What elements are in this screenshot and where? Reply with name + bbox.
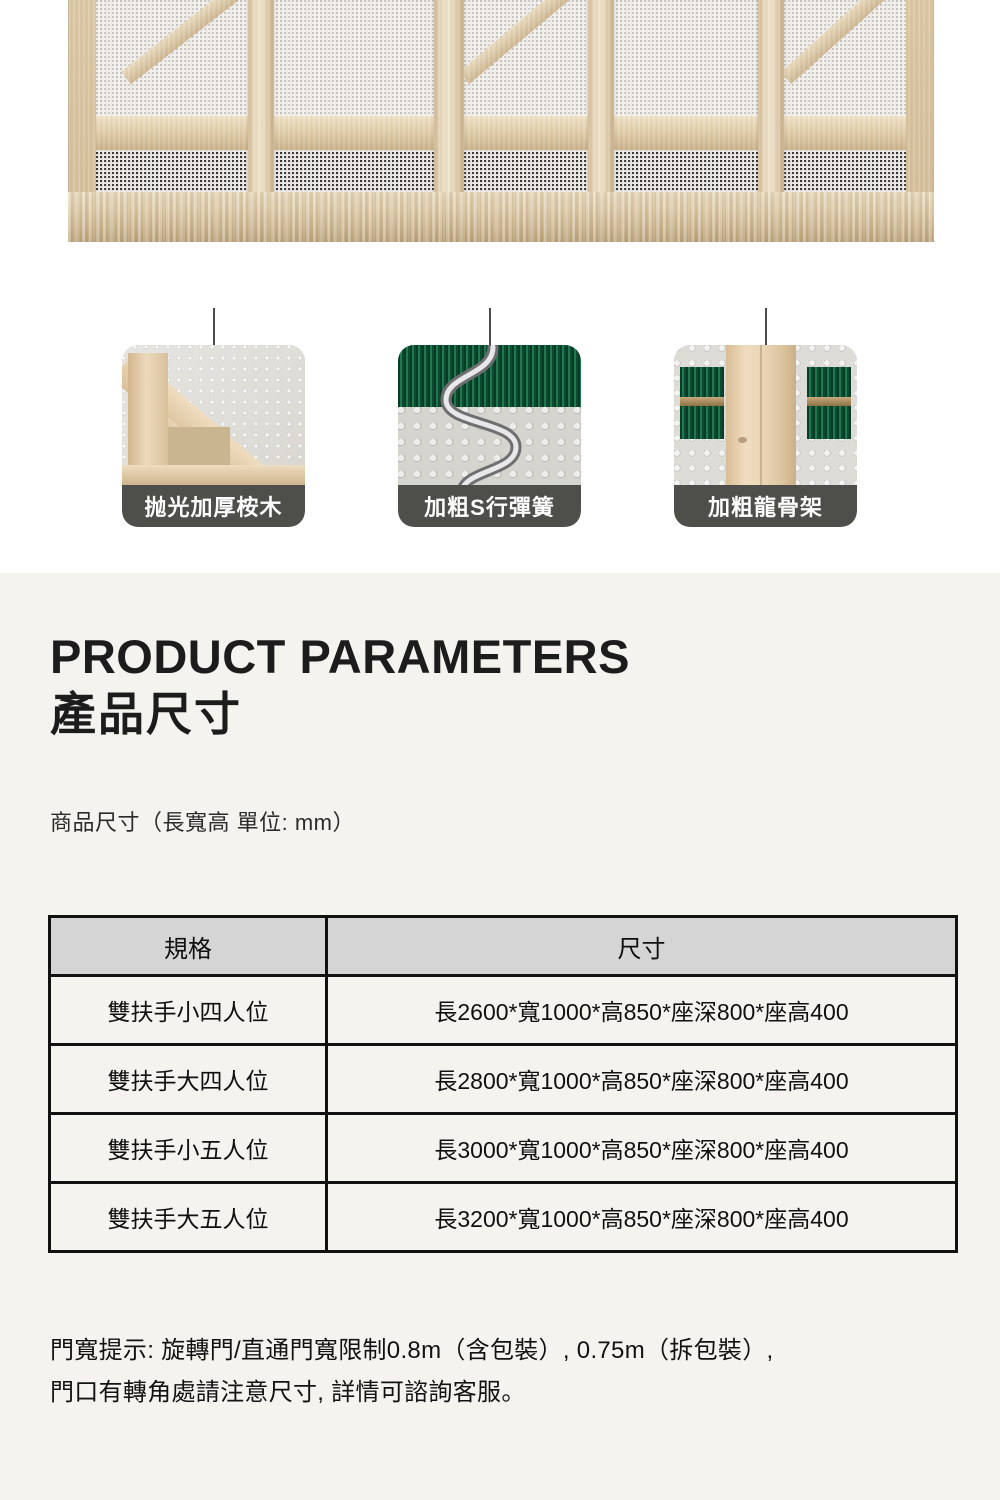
frame-outer-border — [68, 0, 934, 242]
vertical-stud — [758, 0, 784, 195]
wood-trim-left — [680, 397, 724, 406]
feature-image: 加粗龍骨架 — [674, 345, 857, 527]
section-title-english: PRODUCT PARAMETERS — [50, 633, 630, 680]
table-header-row: 規格 尺寸 — [50, 917, 957, 976]
vertical-stud — [434, 0, 464, 195]
diagonal-brace — [459, 0, 577, 84]
table-row: 雙扶手小五人位 長3000*寬1000*高850*座深800*座高400 — [50, 1114, 957, 1183]
cell-dimension: 長3200*寬1000*高850*座深800*座高400 — [327, 1183, 957, 1252]
vertical-stud — [248, 0, 274, 195]
table-row: 雙扶手大五人位 長3200*寬1000*高850*座深800*座高400 — [50, 1183, 957, 1252]
feature-image: 加粗S行彈簧 — [398, 345, 581, 527]
wood-grain-line — [760, 345, 762, 485]
wood-trim-right — [807, 397, 851, 406]
door-width-note: 門寬提示: 旋轉門/直通門寬限制0.8m（含包裝）, 0.75m（拆包裝）, 門… — [50, 1330, 970, 1414]
mesh-fabric-texture — [96, 0, 906, 195]
door-width-note-line2: 門口有轉角處請注意尺寸, 詳情可諮詢客服。 — [50, 1372, 970, 1414]
feature-label: 抛光加厚桉木 — [122, 485, 305, 527]
mesh-dark-band-lower — [96, 140, 906, 195]
column-header-spec: 規格 — [50, 917, 327, 976]
feature-label: 加粗龍骨架 — [674, 485, 857, 527]
column-header-dimension: 尺寸 — [327, 917, 957, 976]
cell-spec: 雙扶手大四人位 — [50, 1045, 327, 1114]
cell-spec: 雙扶手大五人位 — [50, 1183, 327, 1252]
diagonal-brace — [121, 0, 249, 84]
cell-dimension: 長2600*寬1000*高850*座深800*座高400 — [327, 976, 957, 1045]
section-title-chinese: 產品尺寸 — [50, 691, 242, 737]
sofa-wooden-frame-photo — [68, 0, 934, 250]
diagonal-brace — [781, 0, 888, 84]
frame-photo-section: 抛光加厚桉木 加粗S行彈簧 — [0, 0, 1000, 573]
door-width-note-line1: 門寬提示: 旋轉門/直通門寬限制0.8m（含包裝）, 0.75m（拆包裝）, — [50, 1330, 970, 1372]
feature-card-keel-frame: 加粗龍骨架 — [674, 345, 857, 527]
feature-card-s-spring: 加粗S行彈簧 — [398, 345, 581, 527]
horizontal-rail — [96, 116, 906, 150]
leader-line — [489, 308, 491, 346]
leader-line — [213, 308, 215, 346]
cell-dimension: 長3000*寬1000*高850*座深800*座高400 — [327, 1114, 957, 1183]
cell-spec: 雙扶手小四人位 — [50, 976, 327, 1045]
frame-bottom-lip — [68, 192, 934, 242]
wood-knot — [738, 437, 747, 443]
product-parameters-section: PRODUCT PARAMETERS 產品尺寸 商品尺寸（長寬高 單位: mm）… — [0, 573, 1000, 1500]
leader-line — [765, 308, 767, 346]
table-row: 雙扶手大四人位 長2800*寬1000*高850*座深800*座高400 — [50, 1045, 957, 1114]
vertical-stud — [588, 0, 614, 195]
wood-horizontal-rail — [122, 465, 305, 485]
frame-mesh-panel — [96, 0, 906, 195]
feature-image: 抛光加厚桉木 — [122, 345, 305, 527]
dimension-unit-note: 商品尺寸（長寬高 單位: mm） — [50, 805, 355, 837]
feature-callouts: 抛光加厚桉木 加粗S行彈簧 — [0, 300, 1000, 550]
feature-card-eucalyptus-wood: 抛光加厚桉木 — [122, 345, 305, 527]
table-row: 雙扶手小四人位 長2600*寬1000*高850*座深800*座高400 — [50, 976, 957, 1045]
wood-cutout — [168, 427, 230, 465]
cell-spec: 雙扶手小五人位 — [50, 1114, 327, 1183]
cell-dimension: 長2800*寬1000*高850*座深800*座高400 — [327, 1045, 957, 1114]
specification-table: 規格 尺寸 雙扶手小四人位 長2600*寬1000*高850*座深800*座高4… — [48, 915, 958, 1253]
feature-label: 加粗S行彈簧 — [398, 485, 581, 527]
